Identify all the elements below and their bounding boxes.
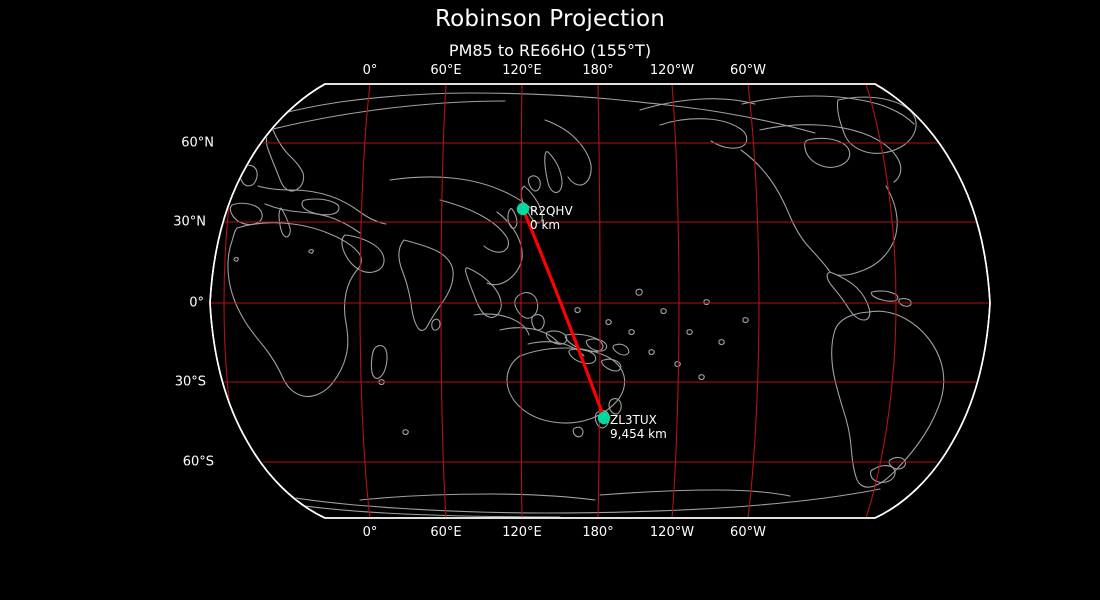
lon-tick-top-120e: 120°E — [502, 63, 542, 78]
station-callsign-destination: ZL3TUX — [610, 413, 667, 427]
lon-tick-bottom-120w: 120°W — [650, 525, 694, 540]
station-distance-origin: 0 km — [530, 218, 573, 232]
station-annotation-destination: ZL3TUX 9,454 km — [610, 413, 667, 441]
lat-tick-60s: 60°S — [183, 455, 214, 470]
lon-tick-bottom-120e: 120°E — [502, 525, 542, 540]
lon-tick-bottom-0: 0° — [363, 525, 378, 540]
station-marker-origin[interactable] — [517, 203, 529, 215]
lon-tick-top-120w: 120°W — [650, 63, 694, 78]
station-distance-destination: 9,454 km — [610, 427, 667, 441]
lon-tick-bottom-60w: 60°W — [730, 525, 766, 540]
lat-tick-0: 0° — [189, 296, 204, 311]
station-callsign-origin: R2QHV — [530, 204, 573, 218]
map-figure: Robinson Projection PM85 to RE66HO (155°… — [0, 0, 1100, 600]
station-marker-destination[interactable] — [598, 412, 610, 424]
lon-tick-top-180: 180° — [582, 63, 613, 78]
lon-tick-top-0: 0° — [363, 63, 378, 78]
lon-tick-bottom-180: 180° — [582, 525, 613, 540]
lon-tick-top-60e: 60°E — [430, 63, 461, 78]
lon-tick-top-60w: 60°W — [730, 63, 766, 78]
lon-tick-bottom-60e: 60°E — [430, 525, 461, 540]
robinson-map-canvas — [0, 0, 1100, 600]
lat-tick-60n: 60°N — [181, 136, 214, 151]
station-annotation-origin: R2QHV 0 km — [530, 204, 573, 232]
lat-tick-30s: 30°S — [175, 375, 206, 390]
lat-tick-30n: 30°N — [173, 215, 206, 230]
